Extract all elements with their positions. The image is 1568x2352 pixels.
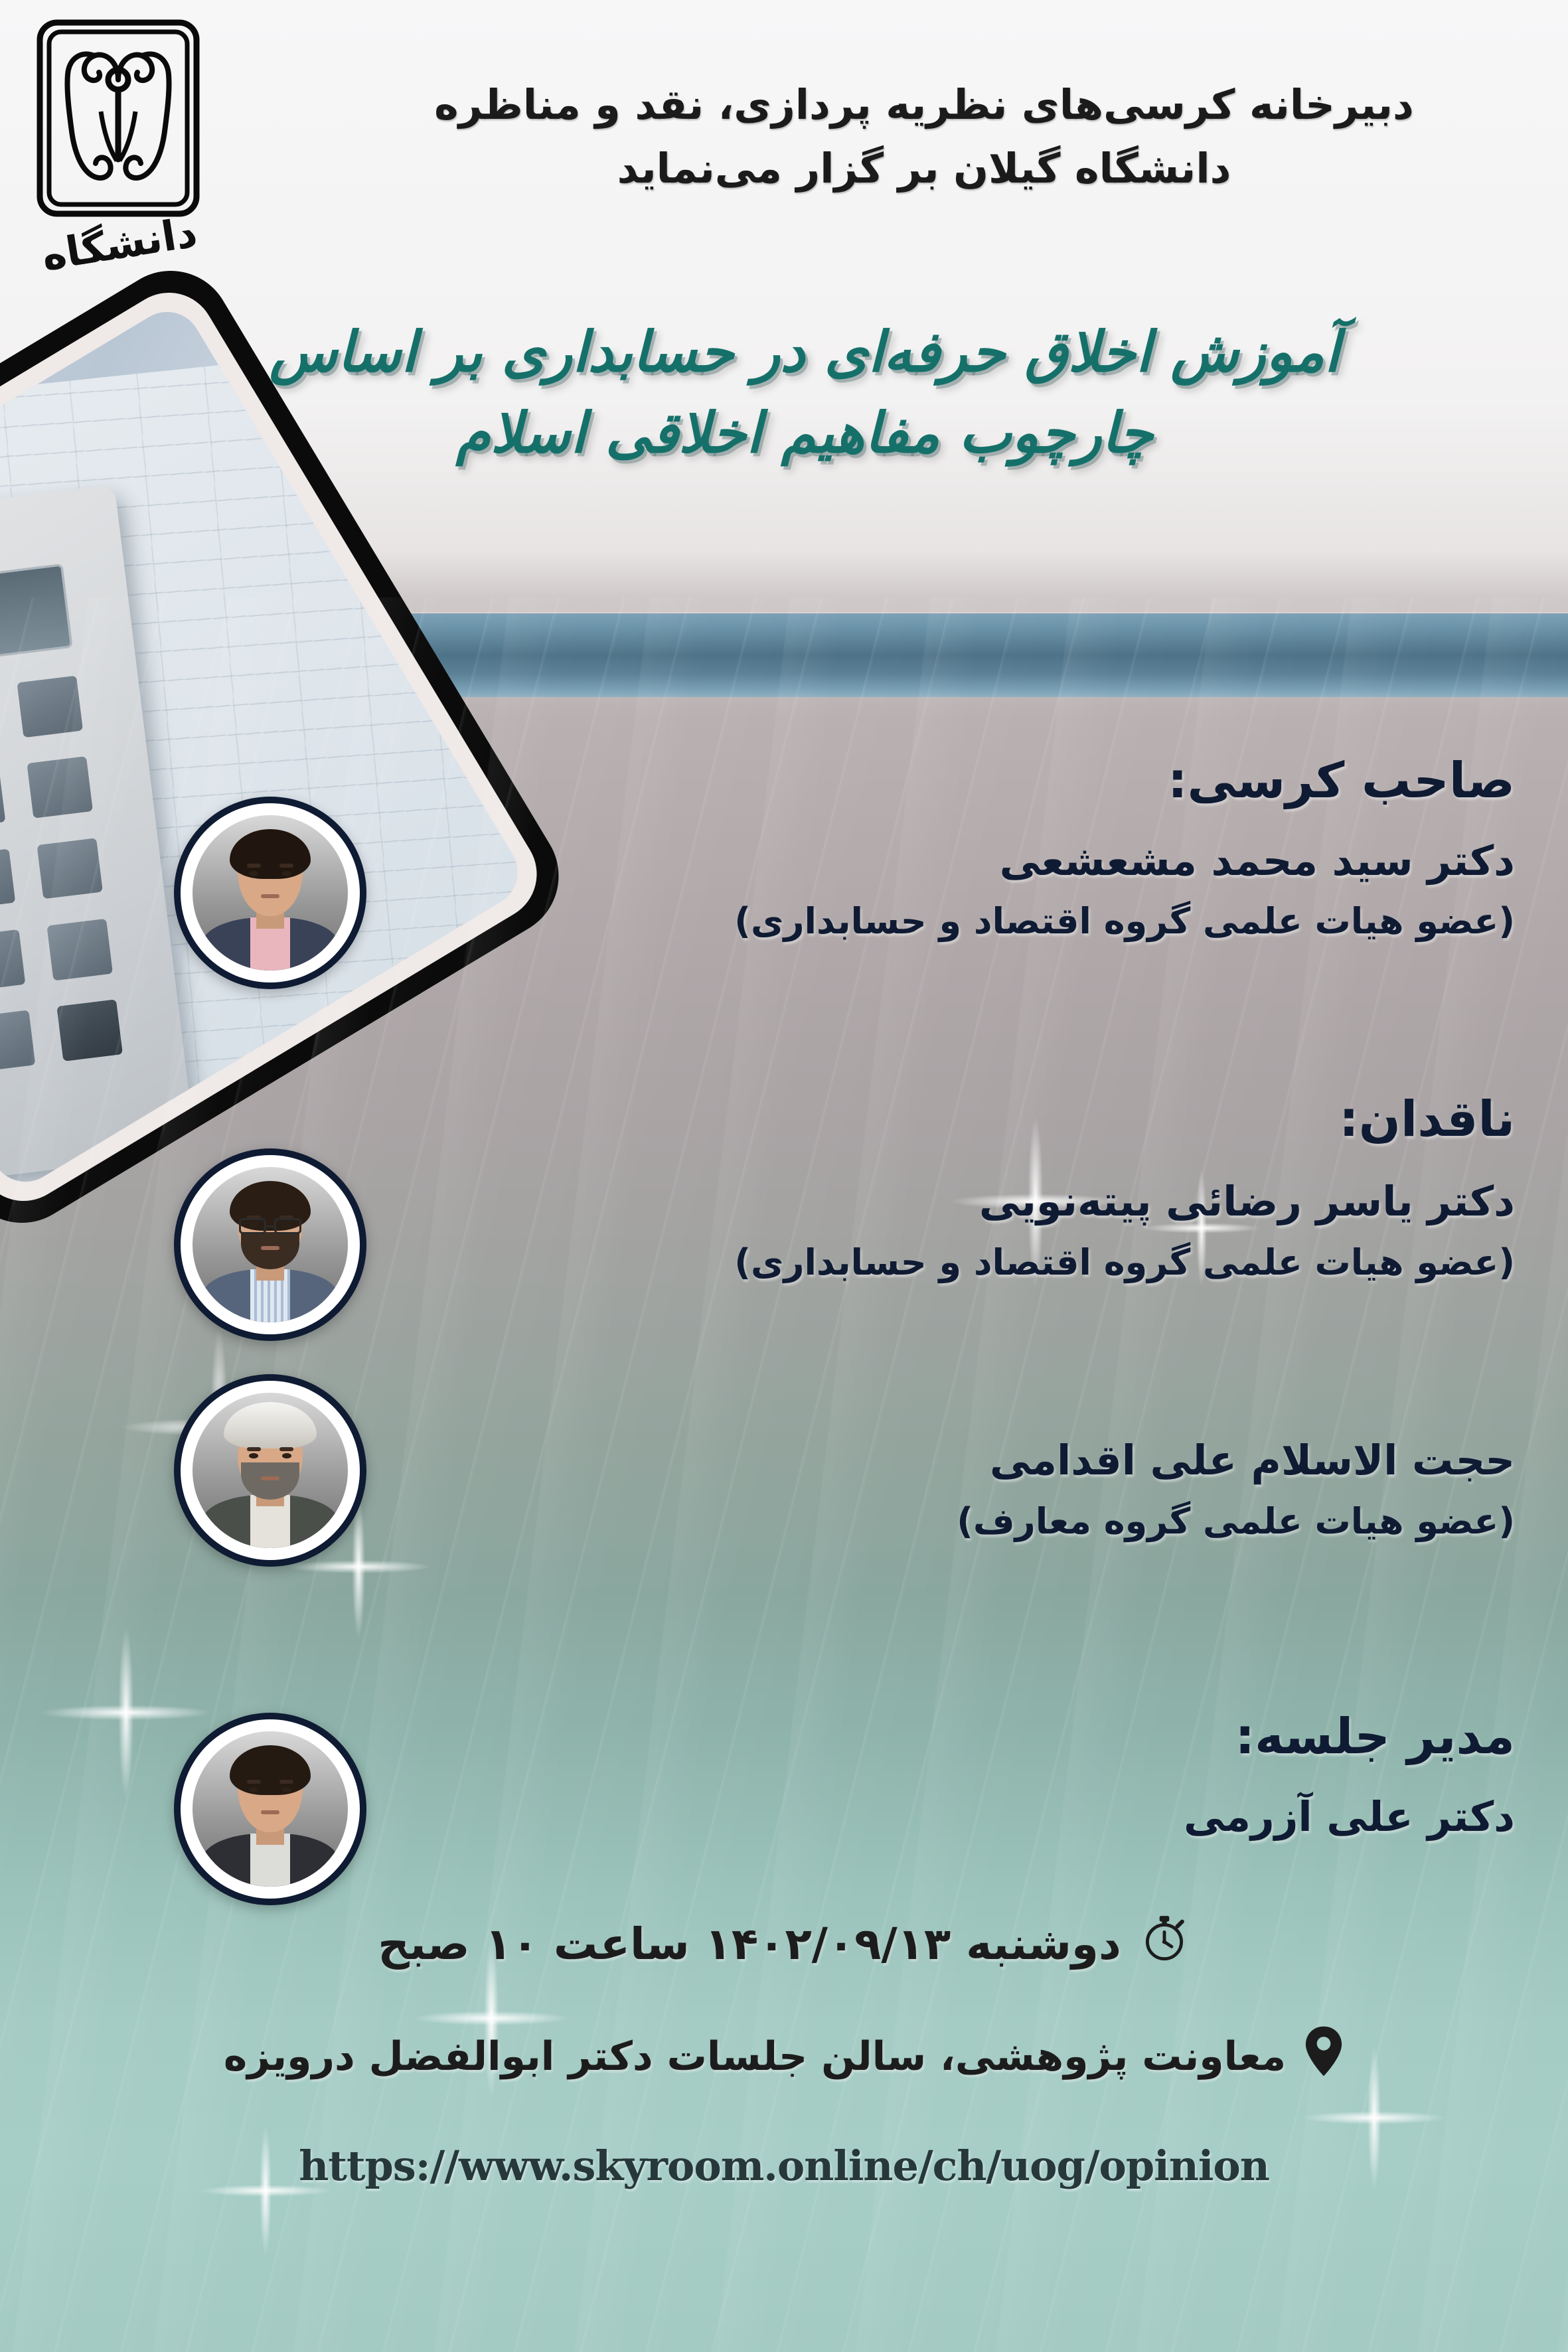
critic-1-text-block: دکتر یاسر رضائی پیته‌نویی (عضو هیات علمی…	[732, 1175, 1515, 1286]
stopwatch-icon	[1138, 1912, 1190, 1977]
organizer-line-2: دانشگاه گیلان بر گزار می‌نماید	[360, 137, 1488, 200]
university-logo: دانشگاه گیلان	[27, 19, 212, 277]
chair-avatar	[174, 797, 366, 989]
organizer-block: دبیرخانه کرسی‌های نظریه پردازی، نقد و من…	[360, 73, 1488, 200]
chair-text-block: صاحب کرسی: دکتر سید محمد مشعشعی (عضو هیا…	[732, 750, 1515, 945]
critics-role-label: ناقدان:	[732, 1089, 1515, 1150]
poster-header: دانشگاه گیلان دبیرخانه کرسی‌های نظریه پر…	[0, 0, 1568, 292]
organizer-line-1: دبیرخانه کرسی‌های نظریه پردازی، نقد و من…	[360, 73, 1488, 137]
critic-2-affiliation: (عضو هیات علمی گروه معارف)	[732, 1498, 1515, 1545]
chair-name: دکتر سید محمد مشعشعی	[732, 834, 1515, 888]
event-url[interactable]: https://www.skyroom.online/ch/uog/opinio…	[0, 2142, 1568, 2190]
event-datetime: دوشنبه ۱۴۰۲/۰۹/۱۳ ساعت ۱۰ صبح	[378, 1917, 1121, 1972]
event-location: معاونت پژوهشی، سالن جلسات دکتر ابوالفضل …	[224, 2032, 1286, 2082]
moderator-avatar	[174, 1713, 366, 1905]
event-location-row: معاونت پژوهشی، سالن جلسات دکتر ابوالفضل …	[0, 2025, 1568, 2090]
critic-2-name: حجت الاسلام علی اقدامی	[732, 1434, 1515, 1488]
map-pin-icon	[1303, 2025, 1344, 2090]
critics-role-block: ناقدان:	[732, 1089, 1515, 1150]
critic-2-avatar	[174, 1374, 366, 1567]
critic-1-name: دکتر یاسر رضائی پیته‌نویی	[732, 1175, 1515, 1229]
moderator-name: دکتر علی آزرمی	[732, 1790, 1515, 1844]
critic-1-avatar	[174, 1148, 366, 1341]
critic-2-text-block: حجت الاسلام علی اقدامی (عضو هیات علمی گر…	[732, 1434, 1515, 1545]
title-line-1: آموزش اخلاق حرفه‌ای در حسابداری بر اساس	[81, 312, 1528, 393]
chair-affiliation: (عضو هیات علمی گروه اقتصاد و حسابداری)	[732, 898, 1515, 945]
critic-1-affiliation: (عضو هیات علمی گروه اقتصاد و حسابداری)	[732, 1239, 1515, 1286]
moderator-role-label: مدیر جلسه:	[732, 1706, 1515, 1768]
gilan-university-butterfly-emblem-icon	[35, 19, 202, 218]
event-datetime-row: دوشنبه ۱۴۰۲/۰۹/۱۳ ساعت ۱۰ صبح	[0, 1912, 1568, 1977]
event-poster: دانشگاه گیلان دبیرخانه کرسی‌های نظریه پر…	[0, 0, 1568, 2352]
poster-footer: دوشنبه ۱۴۰۲/۰۹/۱۳ ساعت ۱۰ صبح معاونت پژو…	[0, 1912, 1568, 2190]
chair-role-label: صاحب کرسی:	[732, 750, 1515, 812]
moderator-text-block: مدیر جلسه: دکتر علی آزرمی	[732, 1706, 1515, 1843]
